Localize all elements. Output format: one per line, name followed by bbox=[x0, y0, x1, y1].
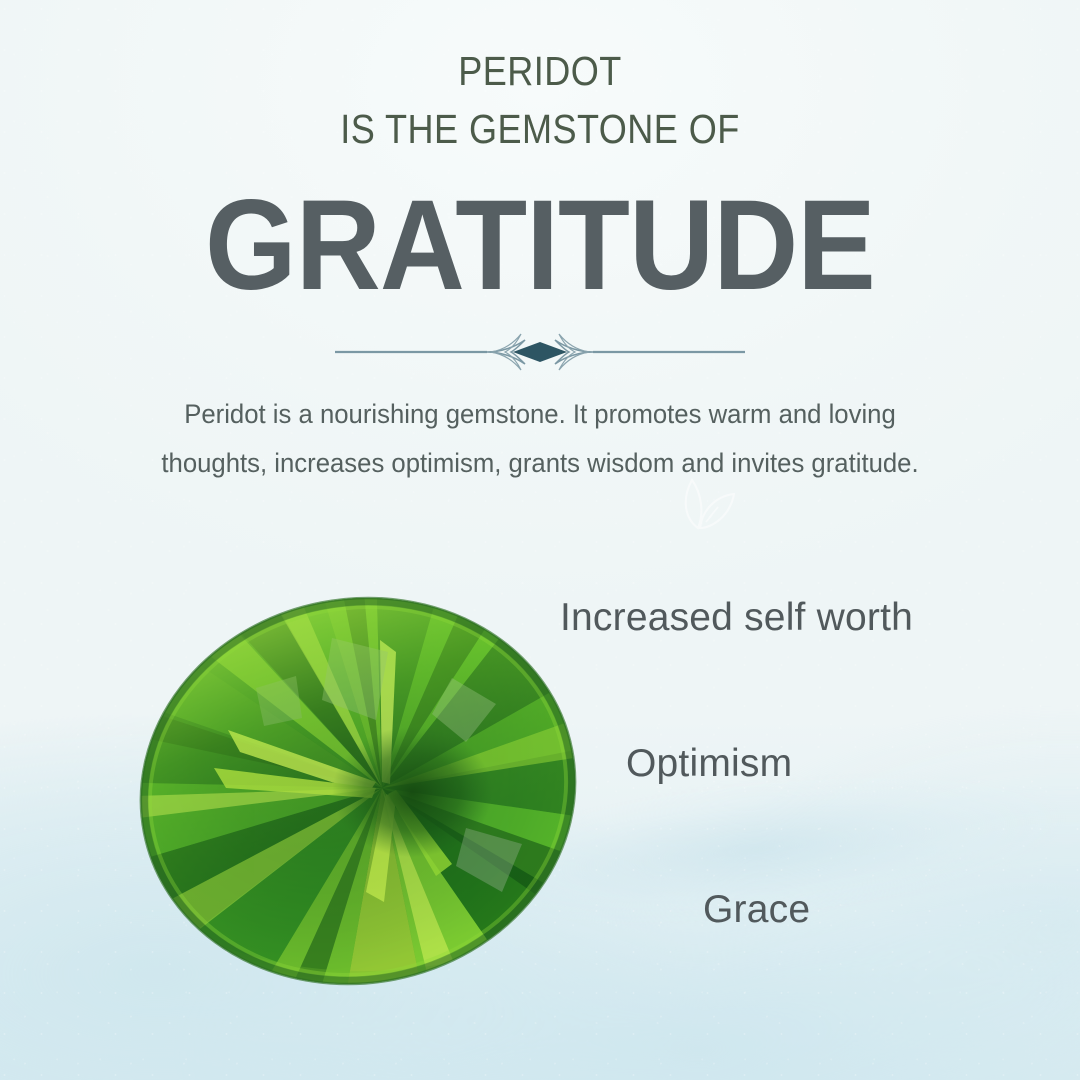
eyebrow-line-2: IS THE GEMSTONE OF bbox=[65, 100, 1015, 158]
benefit-item-grace: Grace bbox=[703, 888, 810, 932]
eyebrow-heading: PERIDOT IS THE GEMSTONE OF bbox=[65, 42, 1015, 158]
gemstone-info-card: PERIDOT IS THE GEMSTONE OF GRATITUDE Per… bbox=[0, 0, 1080, 1080]
divider-flourish-icon bbox=[335, 330, 745, 374]
peridot-gemstone-image bbox=[136, 592, 580, 990]
eyebrow-line-1: PERIDOT bbox=[65, 42, 1015, 100]
page-title: GRATITUDE bbox=[43, 182, 1037, 310]
peridot-gemstone bbox=[136, 592, 580, 990]
description-text: Peridot is a nourishing gemstone. It pro… bbox=[147, 390, 933, 488]
benefit-item-increased-self-worth: Increased self worth bbox=[560, 596, 913, 640]
benefit-item-optimism: Optimism bbox=[626, 742, 792, 786]
ornamental-divider bbox=[335, 330, 745, 374]
